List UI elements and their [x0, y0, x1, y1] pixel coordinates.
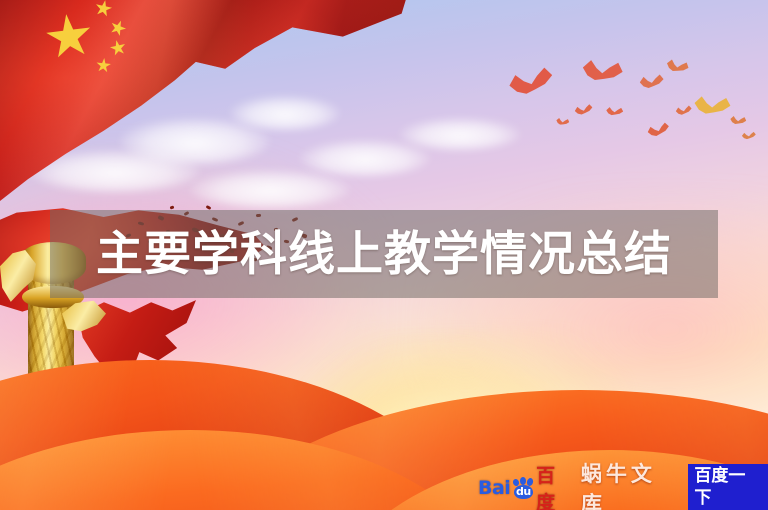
- paw-toe-2: [520, 477, 526, 485]
- footer-watermark: Bai du 百度 蜗牛文库 百度一下: [478, 474, 768, 502]
- baidu-latin-text: Bai: [478, 477, 510, 499]
- particle: [170, 205, 175, 209]
- cloud: [400, 118, 520, 150]
- paw-icon: du: [511, 477, 535, 499]
- site-name: 蜗牛文库: [581, 458, 680, 510]
- china-flag: [0, 0, 410, 216]
- baidu-paw-label: du: [511, 485, 535, 499]
- banner-image: 主要学科线上教学情况总结 Bai du 百度 蜗牛文库 百度一下: [0, 0, 768, 510]
- baidu-chinese-text: 百度: [536, 461, 573, 510]
- baidu-logo[interactable]: Bai du 百度: [478, 476, 573, 500]
- page-title: 主要学科线上教学情况总结: [96, 231, 672, 278]
- baidu-search-button[interactable]: 百度一下: [688, 464, 768, 510]
- title-banner: 主要学科线上教学情况总结: [50, 210, 718, 298]
